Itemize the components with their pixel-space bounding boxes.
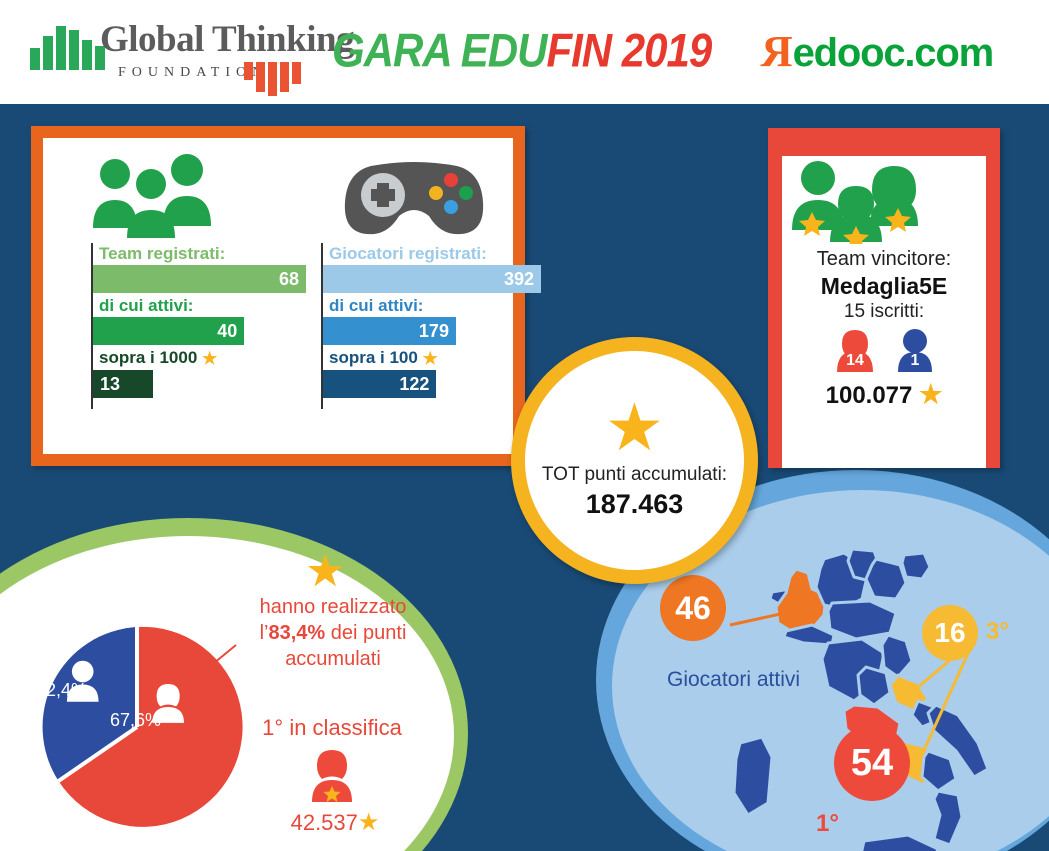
female-star-icon [305,748,359,806]
people-group-icon [89,152,217,240]
map-rank-3: 3° [986,618,1009,646]
pie-rank-label: 1° in classifica [232,715,432,741]
page-title: GARA EDUFIN 2019 [332,24,711,78]
players-row-0-bar: 392 [323,265,541,293]
map-caption: Giocatori attivi [667,668,800,692]
players-row-0-value: 392 [504,269,534,290]
winner-team-name: Medaglia5E [782,273,986,300]
global-thinking-foundation-logo: Global Thinking FOUNDATION [22,14,302,92]
stats-card-inner: Team registrati: 68 di cui attivi: 40 so… [43,138,513,454]
pie-annotation-percent: 83,4% [269,622,326,644]
stats-card: Team registrati: 68 di cui attivi: 40 so… [31,126,525,466]
star-icon: ★ [919,379,942,409]
winner-female-count: 14 [831,352,879,370]
players-row-0-label: Giocatori registrati: [323,243,541,265]
pie-annotation-suffix: dei punti [325,622,406,644]
pie-rank-points-row: 42.537★ [240,808,430,837]
teams-row-2-label: sopra i 1000 ★ [93,347,306,370]
winner-male-count: 1 [893,352,937,370]
star-icon: ★ [358,809,380,836]
infographic-page: Global Thinking FOUNDATION GARA EDUFIN 2… [0,0,1049,851]
pie-annotation-line3: accumulati [285,648,381,670]
map-bubble-piemonte-value: 46 [675,590,711,627]
winner-card-inner: Team vincitore: Medaglia5E 15 iscritti: … [782,156,986,468]
teams-row-0-label: Team registrati: [93,243,306,265]
teams-row-2-value: 13 [100,374,120,395]
players-row-2-label-text: sopra i 100 [329,348,418,367]
page-title-red: FIN 2019 [546,24,711,77]
winner-card: Team vincitore: Medaglia5E 15 iscritti: … [768,128,1000,468]
logo-green-bars-icon [30,24,105,70]
players-row-2-label: sopra i 100 ★ [323,347,541,370]
star-icon: ★ [423,349,438,368]
map-rank-1: 1° [816,810,839,838]
total-points-badge-inner: ★ TOT punti accumulati: 187.463 [525,351,744,570]
winner-gender-breakdown: 14 1 [782,327,986,375]
winner-members-label: 15 iscritti: [782,301,986,323]
players-row-1-bar: 179 [323,317,456,345]
players-bar-chart: Giocatori registrati: 392 di cui attivi:… [321,243,541,409]
italy-map [712,545,1012,851]
redooc-logo: Redooc.com [762,26,993,77]
teams-row-2-bar: 13 [93,370,153,398]
winner-label: Team vincitore: [782,248,986,271]
star-icon: ★ [605,396,664,458]
map-bubble-abruzzo-campania-value: 16 [934,617,965,649]
map-bubble-abruzzo-campania: 16 [922,605,978,661]
teams-row-1-label: di cui attivi: [93,295,306,317]
winner-female-count-icon: 14 [831,327,879,375]
players-row-1-value: 179 [419,321,449,342]
players-row-2-value: 122 [399,374,429,395]
teams-row-0-bar: 68 [93,265,306,293]
star-icon: ★ [305,548,345,593]
header-bar: Global Thinking FOUNDATION GARA EDUFIN 2… [0,0,1049,104]
gender-pie-panel: 67,6% 32,4% ★ hanno realizzato l’83,4% d… [0,530,470,851]
pie-annotation: hanno realizzato l’83,4% dei punti accum… [228,594,438,672]
map-bubble-lazio: 54 [834,725,910,801]
map-bubble-piemonte: 46 [660,575,726,641]
logo-red-bars-icon [244,62,301,96]
players-row-1-label: di cui attivi: [323,295,541,317]
winner-male-count-icon: 1 [893,327,937,375]
teams-row-1-value: 40 [217,321,237,342]
star-icon: ★ [202,349,217,368]
logo-title: Global Thinking [100,18,354,61]
pie-label-male: 32,4% [36,680,87,701]
page-title-green: GARA EDU [332,24,546,77]
winner-points: 100.077 [826,382,913,409]
total-points-badge: ★ TOT punti accumulati: 187.463 [511,337,758,584]
team-star-icon [782,156,986,244]
total-points-label: TOT punti accumulati: [542,464,727,486]
total-points-value: 187.463 [586,489,684,520]
winner-points-row: 100.077 ★ [782,379,986,410]
pie-label-female: 67,6% [110,710,161,731]
logo-title-global: Global [100,19,204,60]
players-row-2-bar: 122 [323,370,436,398]
teams-row-2-label-text: sopra i 1000 [99,348,197,367]
pie-annotation-apostrophe: l’ [260,622,269,644]
pie-rank-points: 42.537 [291,810,358,835]
map-bubble-lazio-value: 54 [851,742,893,785]
pie-annotation-line1: hanno realizzato [260,596,407,618]
teams-row-0-value: 68 [279,269,299,290]
redooc-wordmark: edooc.com [793,31,993,75]
redooc-r-icon: R [762,26,793,77]
teams-bar-chart: Team registrati: 68 di cui attivi: 40 so… [91,243,306,409]
gamepad-icon [341,160,487,238]
teams-row-1-bar: 40 [93,317,244,345]
